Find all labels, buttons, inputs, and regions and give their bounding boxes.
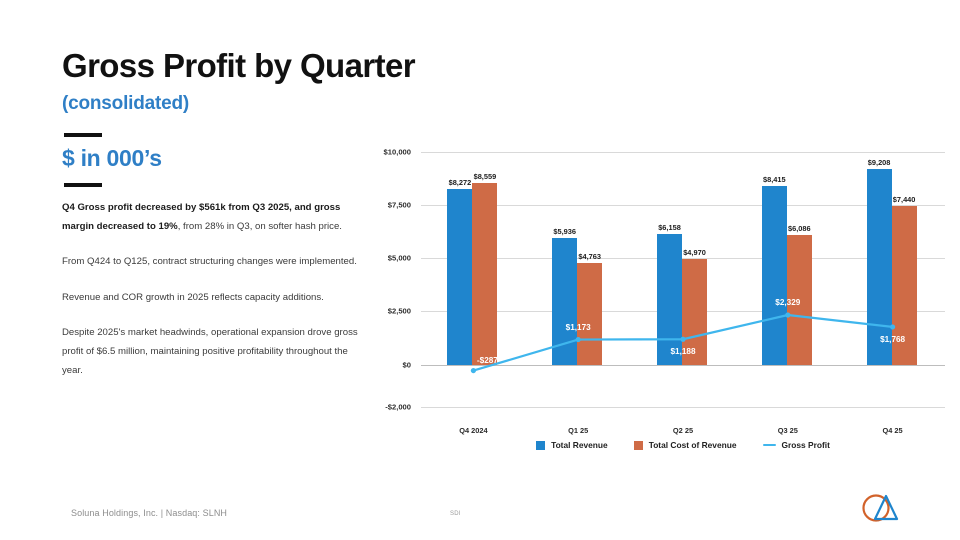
slide-canvas: Gross Profit by Quarter (consolidated) $…: [0, 0, 960, 540]
chart-y-axis-label: $10,000: [291, 148, 411, 157]
divider-rule-bottom: [64, 183, 102, 187]
chart-gross-profit-value-label: $1,768: [880, 335, 905, 344]
footer-company: Soluna Holdings, Inc. | Nasdaq: SLNH: [71, 508, 227, 518]
page-subtitle: (consolidated): [62, 93, 189, 115]
gross-profit-chart: $10,000$7,500$5,000$2,500$0-$2,000$8,272…: [375, 140, 950, 465]
legend-color-swatch-icon: [634, 441, 643, 450]
divider-rule-top: [64, 133, 102, 137]
chart-y-axis-label: $7,500: [291, 201, 411, 210]
gross-profit-line: [421, 152, 945, 407]
chart-y-axis-label: -$2,000: [291, 403, 411, 412]
chart-legend-label: Total Revenue: [551, 440, 608, 450]
chart-gross-profit-value-label: $2,329: [775, 298, 800, 307]
chart-legend-item[interactable]: Total Revenue: [536, 440, 608, 450]
chart-gross-profit-value-label: $1,173: [566, 323, 591, 332]
chart-x-axis-label: Q2 25: [673, 426, 693, 435]
chart-x-axis-label: Q4 2024: [459, 426, 487, 435]
units-label: $ in 000’s: [62, 145, 162, 172]
chart-gridline: [421, 407, 945, 408]
chart-gross-profit-value-label: -$287: [477, 356, 498, 365]
soluna-logo-icon: [852, 487, 910, 529]
chart-legend-item[interactable]: Gross Profit: [763, 440, 830, 450]
commentary-body: Q4 Gross profit decreased by $561k from …: [62, 198, 358, 380]
footer-segment: SDI: [450, 511, 461, 517]
commentary-paragraph: Revenue and COR growth in 2025 reflects …: [62, 288, 358, 307]
chart-y-axis-label: $2,500: [291, 307, 411, 316]
chart-plot-area: $10,000$7,500$5,000$2,500$0-$2,000$8,272…: [421, 152, 945, 407]
chart-x-axis-label: Q3 25: [778, 426, 798, 435]
legend-color-swatch-icon: [536, 441, 545, 450]
chart-y-axis-label: $0: [291, 360, 411, 369]
page-title: Gross Profit by Quarter: [62, 48, 415, 84]
legend-line-swatch-icon: [763, 444, 776, 447]
chart-gross-profit-value-label: $1,188: [670, 347, 695, 356]
commentary-paragraph: Despite 2025's market headwinds, operati…: [62, 323, 358, 381]
chart-legend-label: Total Cost of Revenue: [649, 440, 737, 450]
chart-x-axis-label: Q4 25: [883, 426, 903, 435]
chart-legend: Total RevenueTotal Cost of RevenueGross …: [421, 440, 945, 450]
chart-legend-item[interactable]: Total Cost of Revenue: [634, 440, 737, 450]
chart-x-axis-label: Q1 25: [568, 426, 588, 435]
chart-y-axis-label: $5,000: [291, 254, 411, 263]
chart-legend-label: Gross Profit: [782, 440, 830, 450]
